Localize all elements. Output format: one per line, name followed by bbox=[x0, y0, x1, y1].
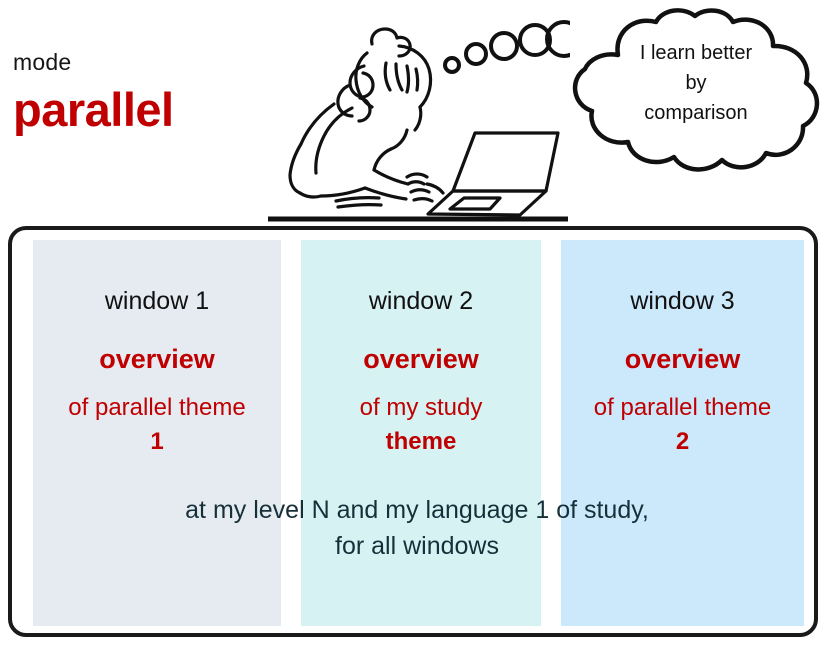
window-3-subtitle: of parallel theme 2 bbox=[561, 391, 804, 459]
bubble-text-line-2: by bbox=[596, 68, 796, 98]
windows-frame: window 1 overview of parallel theme 1 wi… bbox=[8, 226, 818, 637]
window-1-label: window 1 bbox=[33, 286, 281, 316]
window-3-sub-text: of parallel theme bbox=[594, 394, 771, 421]
window-3-sub-emphasis: 2 bbox=[561, 425, 804, 459]
window-1-overview: overview bbox=[33, 343, 281, 375]
window-1-sub-emphasis: 1 bbox=[33, 425, 281, 459]
page-title: parallel bbox=[13, 82, 174, 138]
window-2-label: window 2 bbox=[301, 286, 541, 316]
window-2-subtitle: of my study theme bbox=[301, 391, 541, 459]
thought-dots-icon bbox=[440, 18, 570, 88]
window-2-sub-emphasis: theme bbox=[301, 425, 541, 459]
window-panel-1[interactable]: window 1 overview of parallel theme 1 bbox=[33, 240, 281, 626]
window-panel-2[interactable]: window 2 overview of my study theme bbox=[301, 240, 541, 626]
bubble-text-line-3: comparison bbox=[596, 98, 796, 128]
window-2-overview: overview bbox=[301, 343, 541, 375]
bubble-text: I learn better by comparison bbox=[596, 38, 796, 128]
window-3-label: window 3 bbox=[561, 286, 804, 316]
window-panel-3[interactable]: window 3 overview of parallel theme 2 bbox=[561, 240, 804, 626]
window-2-sub-text: of my study bbox=[360, 394, 483, 421]
mode-label: mode bbox=[13, 48, 71, 76]
bubble-text-line-1: I learn better bbox=[596, 38, 796, 68]
window-1-sub-text: of parallel theme bbox=[68, 394, 245, 421]
window-1-subtitle: of parallel theme 1 bbox=[33, 391, 281, 459]
window-3-overview: overview bbox=[561, 343, 804, 375]
